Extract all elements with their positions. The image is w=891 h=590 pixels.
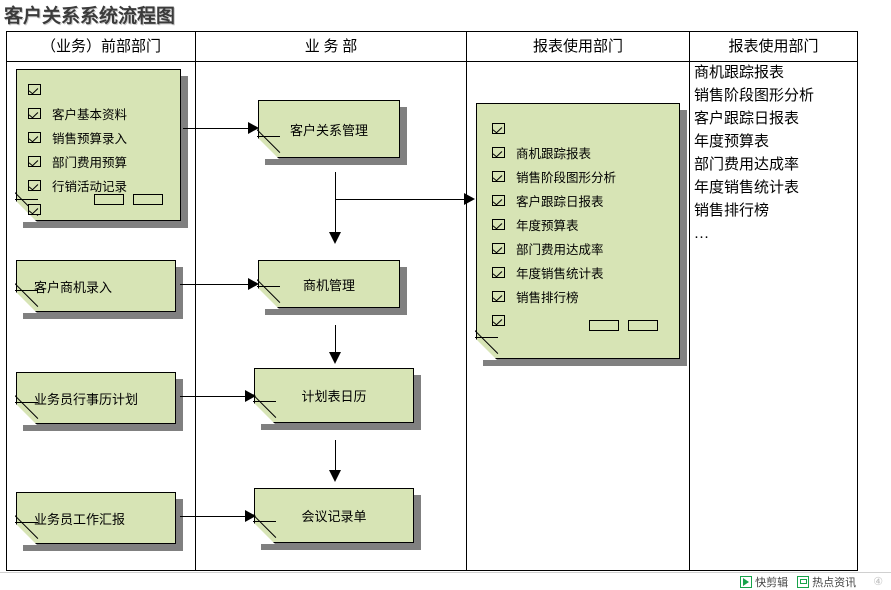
play-clip-icon [740,576,752,588]
report-list-item: 年度销售统计表 [694,177,856,200]
connector-opportunity-down [335,325,336,355]
connector-crm-down [335,172,336,234]
connector-schedule-down [335,440,336,472]
arrowhead-right [248,278,259,290]
page-title: 客户关系系统流程图 [4,1,175,28]
column-header-business-dept: 业 务 部 [196,36,466,58]
checkbox-checked-icon[interactable] [28,204,41,215]
statusbar-trailing-glyph[interactable]: ④ [865,575,885,588]
connector-report-to-meeting [180,516,246,517]
checkbox-checked-icon[interactable] [28,180,41,191]
column-divider-3 [689,31,690,571]
node-customer-opportunity-entry[interactable]: 客户商机录入 [16,260,176,312]
checkbox-checked-icon[interactable] [492,267,505,278]
checkbox-checked-icon[interactable] [492,171,505,182]
checklist-row[interactable] [28,77,175,101]
arrowhead-right [248,122,259,134]
checklist-row[interactable] [492,116,674,140]
checkbox-checked-icon[interactable] [492,315,505,326]
checklist-label: 商机跟踪报表 [516,143,591,162]
checkbox-checked-icon[interactable] [492,243,505,254]
node-reports-document[interactable]: 商机跟踪报表 销售阶段图形分析 客户跟踪日报表 年度预算表 部门费用达成率 年度… [476,103,680,359]
checkbox-checked-icon[interactable] [28,108,41,119]
arrowhead-right [245,390,256,402]
checkbox-checked-icon[interactable] [492,219,505,230]
checklist-label: 客户跟踪日报表 [516,191,604,210]
arrowhead-down [329,352,341,364]
doc-button[interactable] [589,320,619,331]
arrowhead-down [329,470,341,482]
doc-button[interactable] [628,320,658,331]
connector-entry-to-opportunity [180,284,249,285]
doc-button[interactable] [133,194,163,205]
column-divider-2 [466,31,467,571]
checkbox-checked-icon[interactable] [28,132,41,143]
node-customer-data-document[interactable]: 客户基本资料 销售预算录入 部门费用预算 行销活动记录 [16,69,181,221]
doc-button-group[interactable] [94,194,163,205]
folded-corner-diagonal [475,329,506,360]
statusbar-item-label: 热点资讯 [812,574,856,590]
checklist-label: 部门费用预算 [52,152,127,171]
arrowhead-right [245,510,256,522]
node-salesperson-calendar-plan[interactable]: 业务员行事历计划 [16,372,176,424]
connector-doc-to-crm [183,128,249,129]
statusbar-item-quick-edit[interactable]: 快剪辑 [740,574,788,590]
node-label: 业务员工作汇报 [16,492,176,544]
report-list-item: 销售阶段图形分析 [694,85,856,108]
doc-button-group[interactable] [589,320,658,331]
checklist-row[interactable]: 客户跟踪日报表 [492,188,674,212]
news-icon [797,576,809,588]
statusbar-item-label: 快剪辑 [755,574,788,590]
connector-plan-to-calendar [180,396,246,397]
node-label: 会议记录单 [254,488,414,543]
checkbox-checked-icon[interactable] [492,123,505,134]
checkbox-checked-icon[interactable] [28,156,41,167]
checkbox-checked-icon[interactable] [492,195,505,206]
arrowhead-down [329,232,341,244]
status-bar: 快剪辑 热点资讯 ④ [0,572,891,590]
statusbar-item-hot-news[interactable]: 热点资讯 [797,574,856,590]
checklist-label: 年度销售统计表 [516,263,604,282]
node-meeting-record[interactable]: 会议记录单 [254,488,414,543]
checklist-label: 行销活动记录 [52,176,127,195]
checklist-row[interactable]: 部门费用预算 [28,149,175,173]
checklist-row[interactable]: 销售阶段图形分析 [492,164,674,188]
checklist: 商机跟踪报表 销售阶段图形分析 客户跟踪日报表 年度预算表 部门费用达成率 年度… [492,116,674,332]
report-list-item: 客户跟踪日报表 [694,108,856,131]
checkbox-checked-icon[interactable] [492,147,505,158]
report-name-list: 商机跟踪报表 销售阶段图形分析 客户跟踪日报表 年度预算表 部门费用达成率 年度… [694,62,856,246]
node-label: 业务员行事历计划 [16,372,176,424]
checklist-label: 销售排行榜 [516,287,579,306]
connector-crm-to-reports [335,199,466,200]
checklist-row[interactable]: 销售预算录入 [28,125,175,149]
node-label: 商机管理 [258,260,400,308]
report-list-item: 商机跟踪报表 [694,62,856,85]
checklist-label: 年度预算表 [516,215,579,234]
report-list-item: 销售排行榜 [694,200,856,223]
node-salesperson-work-report[interactable]: 业务员工作汇报 [16,492,176,544]
node-schedule-calendar[interactable]: 计划表日历 [254,368,414,423]
report-list-item: 年度预算表 [694,131,856,154]
node-label: 计划表日历 [254,368,414,423]
checkbox-checked-icon[interactable] [492,291,505,302]
report-list-item: 部门费用达成率 [694,154,856,177]
node-label: 客户关系管理 [258,100,400,158]
column-divider-1 [195,31,196,571]
checkbox-checked-icon[interactable] [28,84,41,95]
column-header-report-dept-2: 报表使用部门 [690,36,857,58]
diagram-page: 客户关系系统流程图 （业务）前部部门 业 务 部 报表使用部门 报表使用部门 客… [0,0,891,590]
doc-button[interactable] [94,194,124,205]
checklist-row[interactable]: 年度预算表 [492,212,674,236]
checklist-row[interactable]: 客户基本资料 [28,101,175,125]
checklist-label: 部门费用达成率 [516,239,604,258]
checklist-label: 客户基本资料 [52,104,127,123]
checklist-row[interactable]: 部门费用达成率 [492,236,674,260]
checklist-row[interactable]: 销售排行榜 [492,284,674,308]
checklist-row[interactable]: 商机跟踪报表 [492,140,674,164]
node-crm-management[interactable]: 客户关系管理 [258,100,400,158]
node-label: 客户商机录入 [16,260,176,312]
column-header-front-dept: （业务）前部部门 [7,36,195,58]
node-opportunity-management[interactable]: 商机管理 [258,260,400,308]
checklist-label: 销售阶段图形分析 [516,167,616,186]
checklist-row[interactable]: 年度销售统计表 [492,260,674,284]
report-list-item: … [694,223,856,246]
column-header-report-dept-1: 报表使用部门 [467,36,689,58]
checklist-label: 销售预算录入 [52,128,127,147]
arrowhead-right [464,193,475,205]
